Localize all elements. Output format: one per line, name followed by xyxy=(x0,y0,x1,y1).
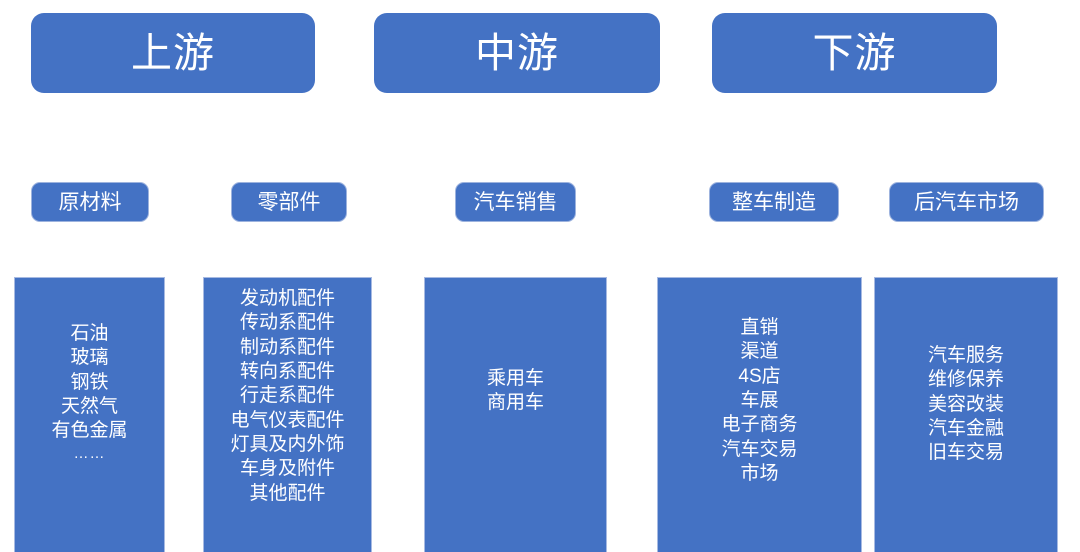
panel-item: 直销 xyxy=(740,316,778,340)
panel-item: 市场 xyxy=(740,462,778,486)
panel-item: 维修保养 xyxy=(928,368,1004,392)
panel-item: 车展 xyxy=(740,389,778,413)
panel-item: 旧车交易 xyxy=(928,441,1004,465)
segment-pill-raw-materials[interactable]: 原材料 xyxy=(31,182,149,222)
panel-item: 天然气 xyxy=(61,395,118,419)
panel-item: 汽车交易 xyxy=(721,438,797,462)
panel-item: 发动机配件 xyxy=(240,287,335,311)
panel-item: 灯具及内外饰 xyxy=(230,433,344,457)
segment-pill-label: 后汽车市场 xyxy=(914,192,1019,213)
content-panel-raw-materials: 石油玻璃钢铁天然气有色金属…… xyxy=(14,277,165,552)
panel-item: 玻璃 xyxy=(70,346,108,370)
content-panel-components: 发动机配件传动系配件制动系配件转向系配件行走系配件电气仪表配件灯具及内外饰车身及… xyxy=(203,277,372,552)
tier-box-midstream[interactable]: 中游 xyxy=(374,13,660,93)
content-panel-aftermarket: 汽车服务维修保养美容改装汽车金融旧车交易 xyxy=(874,277,1058,552)
segment-pill-aftermarket[interactable]: 后汽车市场 xyxy=(889,182,1044,222)
industry-chain-diagram: 上游 中游 下游 原材料 零部件 汽车销售 整车制造 后汽车市场 石油玻璃钢铁天… xyxy=(0,0,1080,552)
panel-item: 商用车 xyxy=(487,391,544,415)
panel-item: 其他配件 xyxy=(249,482,325,506)
tier-box-downstream[interactable]: 下游 xyxy=(712,13,997,93)
panel-item: …… xyxy=(74,444,106,463)
panel-item: 转向系配件 xyxy=(240,360,335,384)
panel-item: 行走系配件 xyxy=(240,384,335,408)
panel-item: 电气仪表配件 xyxy=(230,409,344,433)
content-panel-auto-sales: 乘用车商用车 xyxy=(424,277,607,552)
segment-pill-label: 零部件 xyxy=(258,192,321,213)
panel-item: 乘用车 xyxy=(487,367,544,391)
tier-label: 下游 xyxy=(813,33,897,74)
segment-pill-components[interactable]: 零部件 xyxy=(231,182,347,222)
panel-item: 车身及附件 xyxy=(240,457,335,481)
panel-item: 传动系配件 xyxy=(240,311,335,335)
tier-box-upstream[interactable]: 上游 xyxy=(31,13,315,93)
panel-item: 有色金属 xyxy=(51,419,127,443)
panel-item: 4S店 xyxy=(738,365,780,389)
segment-pill-label: 原材料 xyxy=(59,192,122,213)
tier-label: 上游 xyxy=(131,33,215,74)
panel-item: 电子商务 xyxy=(721,413,797,437)
segment-pill-label: 整车制造 xyxy=(732,192,816,213)
panel-item: 钢铁 xyxy=(70,371,108,395)
segment-pill-auto-sales[interactable]: 汽车销售 xyxy=(455,182,576,222)
content-panel-vehicle-manufacturing: 直销渠道4S店车展电子商务汽车交易市场 xyxy=(657,277,862,552)
tier-label: 中游 xyxy=(475,33,559,74)
panel-item: 汽车服务 xyxy=(928,344,1004,368)
segment-pill-vehicle-manufacturing[interactable]: 整车制造 xyxy=(709,182,839,222)
panel-item: 美容改装 xyxy=(928,393,1004,417)
panel-item: 汽车金融 xyxy=(928,417,1004,441)
segment-pill-label: 汽车销售 xyxy=(474,192,558,213)
panel-item: 渠道 xyxy=(740,340,778,364)
panel-item: 制动系配件 xyxy=(240,336,335,360)
panel-item: 石油 xyxy=(70,322,108,346)
